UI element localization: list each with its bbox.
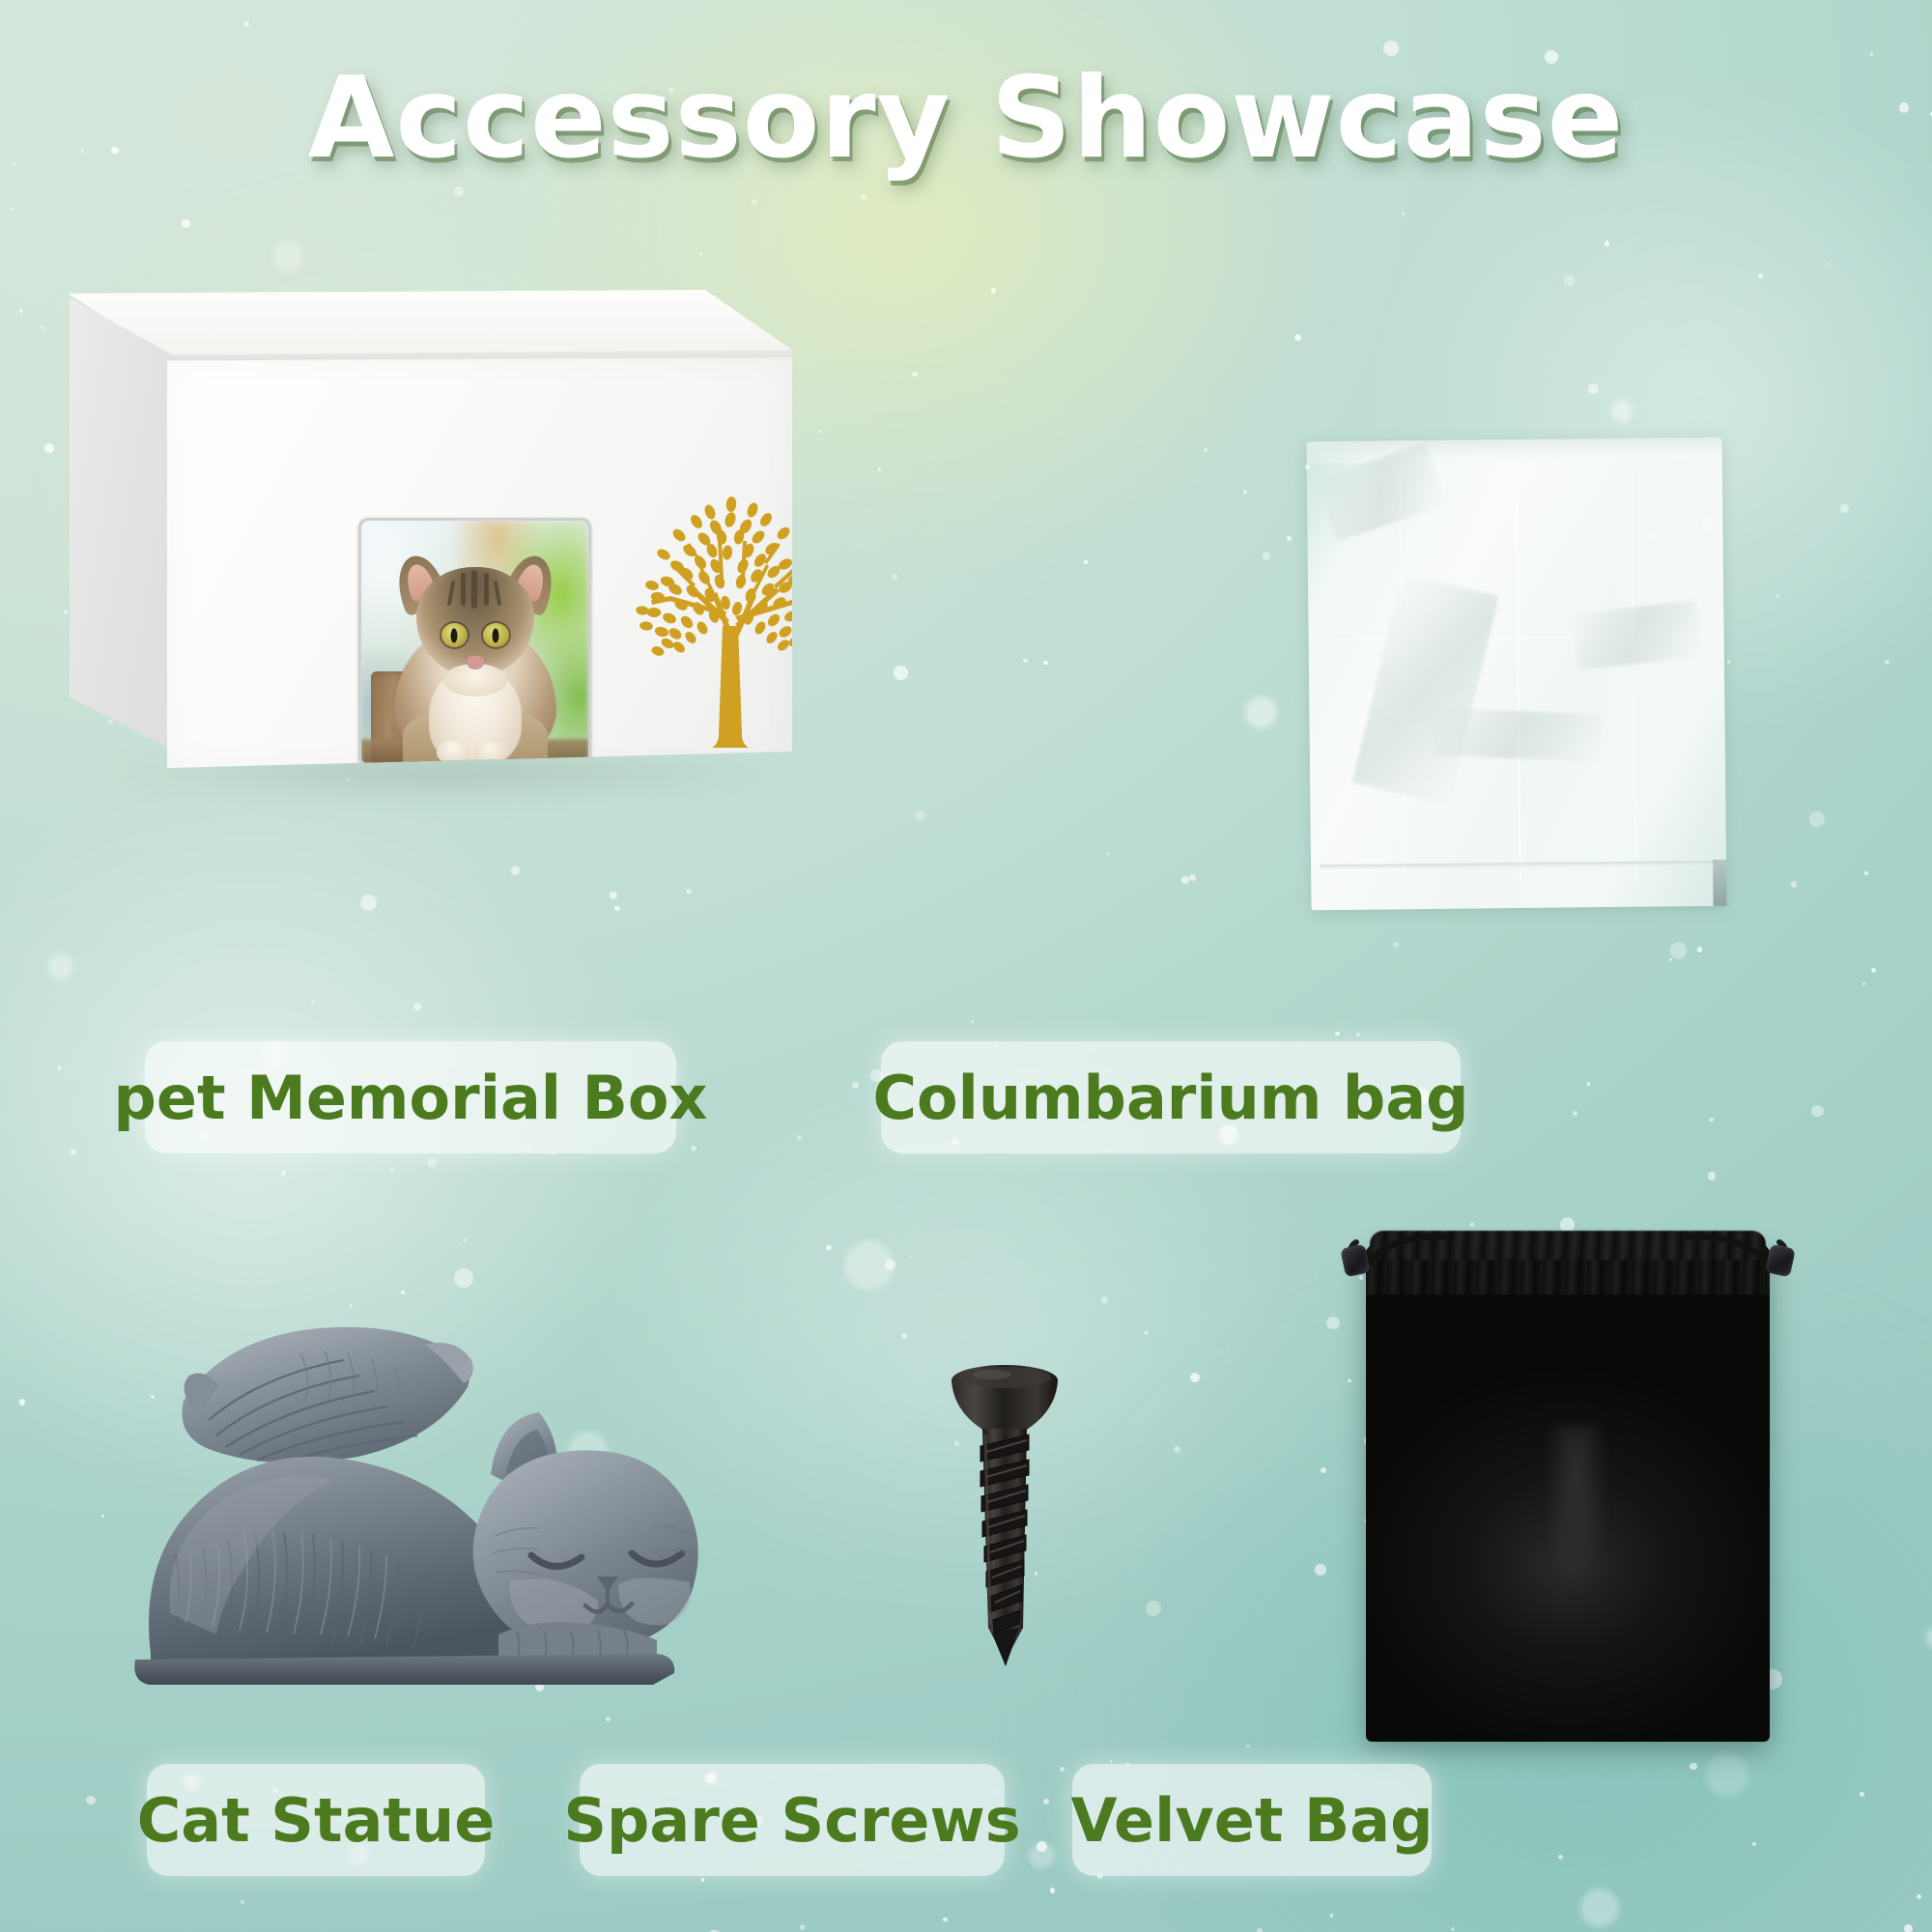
cat-muzzle bbox=[443, 664, 507, 696]
memorial-box-front-panel: Forever in our heart bbox=[167, 357, 792, 768]
memorial-box-icon: Forever in our heart bbox=[68, 290, 831, 792]
cat-paw-left bbox=[437, 741, 469, 762]
cat-paw-right bbox=[473, 741, 506, 762]
page-title: Accessory Showcase bbox=[0, 60, 1932, 178]
cat-eye-left bbox=[441, 623, 468, 647]
memorial-box-side-panel bbox=[70, 298, 176, 752]
cat-eye-right bbox=[483, 623, 509, 647]
angel-cat-statue-icon bbox=[116, 1294, 715, 1719]
velvet-bag-drawstring bbox=[1341, 1215, 1795, 1742]
label-cat-statue: Cat Statue bbox=[147, 1764, 485, 1876]
label-velvet-bag: Velvet Bag bbox=[1072, 1764, 1432, 1876]
label-spare-screws: Spare Screws bbox=[580, 1764, 1005, 1876]
plastic-fold-bottom bbox=[1434, 708, 1602, 762]
drawstring-bag-icon bbox=[1341, 1215, 1795, 1742]
label-pet-memorial-box: pet Memorial Box bbox=[145, 1041, 676, 1153]
golden-tree-icon bbox=[619, 481, 841, 761]
cat-photo bbox=[361, 521, 588, 764]
cat-head bbox=[416, 567, 534, 675]
memorial-box-top-panel bbox=[68, 290, 792, 361]
plastic-bag-lip bbox=[1306, 438, 1721, 464]
plastic-bag-icon bbox=[1306, 438, 1726, 910]
screw-icon bbox=[932, 1338, 1077, 1710]
label-columbarium-bag: Columbarium bag bbox=[881, 1041, 1461, 1153]
cat-nose bbox=[467, 656, 483, 668]
memorial-box-photo-window bbox=[358, 518, 591, 767]
cat-figure bbox=[392, 538, 558, 764]
showcase-poster: Accessory Showcase bbox=[0, 0, 1932, 1932]
plastic-bag-tab bbox=[1713, 860, 1727, 906]
